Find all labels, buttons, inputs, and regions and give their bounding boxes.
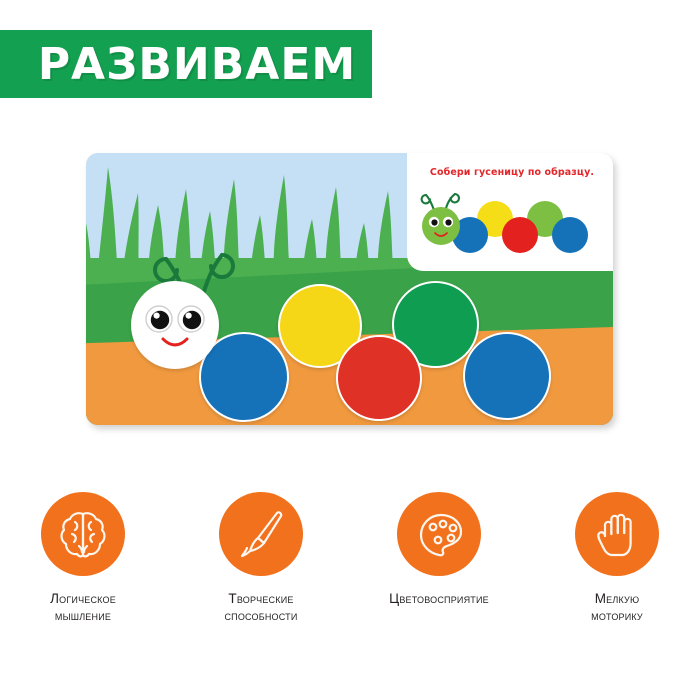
banner-title: РАЗВИВАЕМ	[16, 39, 356, 90]
sample-head	[422, 207, 460, 245]
feature-label: Логическое мышление	[50, 590, 116, 624]
smile	[163, 339, 187, 345]
feature-label-line2: способности	[224, 607, 297, 624]
banner: РАЗВИВАЕМ	[0, 30, 372, 98]
caterpillar-face	[131, 281, 219, 369]
brain-icon	[55, 506, 111, 562]
feature-label: Творческие способности	[224, 590, 297, 624]
paintbrush-icon	[233, 506, 289, 562]
brain-icon-circle	[41, 492, 125, 576]
feature-label-line2: моторику	[591, 607, 643, 624]
segment-red[interactable]	[336, 335, 422, 421]
caterpillar-board-card[interactable]: Собери гусеницу по образцу.	[86, 153, 613, 425]
hand-icon-circle	[575, 492, 659, 576]
palette-icon	[411, 506, 467, 562]
feature-label-line2: мышление	[50, 607, 116, 624]
palette-icon-circle	[397, 492, 481, 576]
feature-list: Логическое мышление Творческие способнос…	[0, 492, 700, 624]
paintbrush-icon-circle	[219, 492, 303, 576]
instruction-text: Собери гусеницу по образцу.	[419, 167, 605, 178]
hand-icon	[589, 506, 645, 562]
feature-fine-motor-skills[interactable]: Мелкую моторику	[557, 492, 677, 624]
instruction-panel: Собери гусеницу по образцу.	[407, 153, 613, 271]
feature-label-line1: Мелкую	[591, 590, 643, 607]
feature-label: Цветовосприятие	[389, 590, 489, 607]
right-eye	[178, 306, 204, 332]
segment-blue-2[interactable]	[463, 332, 551, 420]
feature-logical-thinking[interactable]: Логическое мышление	[23, 492, 143, 624]
sample-caterpillar	[413, 185, 609, 265]
feature-label: Мелкую моторику	[591, 590, 643, 624]
sample-segment-red	[502, 217, 538, 253]
feature-label-line1: Творческие	[224, 590, 297, 607]
left-eye	[146, 306, 172, 332]
feature-label-line1: Цветовосприятие	[389, 590, 489, 607]
feature-label-line1: Логическое	[50, 590, 116, 607]
sample-segment-blue-2	[552, 217, 588, 253]
feature-color-perception[interactable]: Цветовосприятие	[379, 492, 499, 624]
page-root: РАЗВИВАЕМ	[0, 0, 700, 700]
feature-creative-abilities[interactable]: Творческие способности	[201, 492, 321, 624]
